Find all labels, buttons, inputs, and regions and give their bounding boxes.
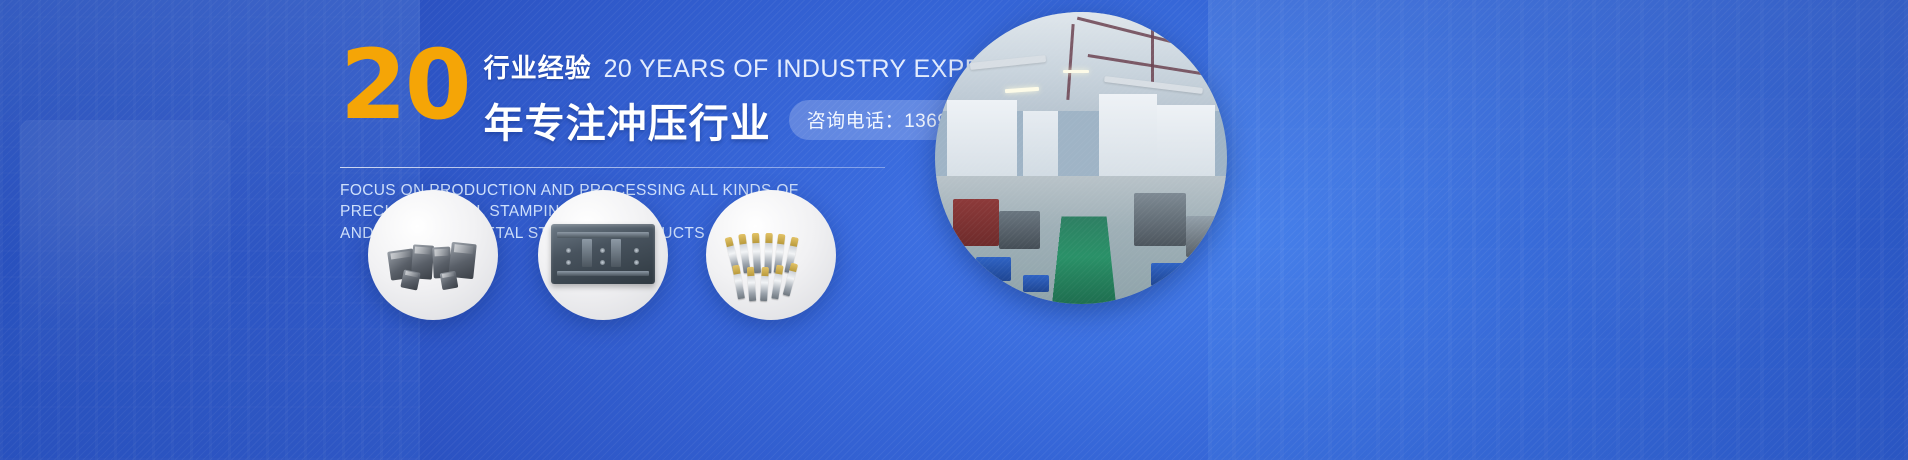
mold-post bbox=[582, 239, 591, 267]
factory-photo-circle[interactable] bbox=[935, 12, 1227, 304]
blue-crate bbox=[1023, 275, 1049, 293]
headline-cn-small: 行业经验 bbox=[484, 48, 592, 85]
headline: 20 行业经验 20 YEARS OF INDUSTRY EXPERIENCE … bbox=[340, 42, 960, 149]
ceiling-beam bbox=[1151, 18, 1154, 82]
ceiling-light bbox=[1063, 70, 1089, 73]
machine-unit bbox=[999, 211, 1040, 249]
connector-part bbox=[400, 269, 420, 290]
headline-cn-large: 年专注冲压行业 bbox=[484, 91, 771, 149]
blue-crate bbox=[1151, 263, 1189, 286]
promo-banner: 20 行业经验 20 YEARS OF INDUSTRY EXPERIENCE … bbox=[0, 0, 1908, 460]
mold-pin bbox=[634, 248, 639, 253]
blue-crate bbox=[976, 257, 1011, 280]
machine-unit bbox=[1134, 193, 1187, 246]
product-circle-connectors[interactable] bbox=[368, 190, 498, 320]
green-aisle bbox=[1052, 216, 1116, 304]
background-factory-ghost-right bbox=[1208, 0, 1908, 460]
mold-pin bbox=[566, 248, 571, 253]
mold-pin bbox=[634, 260, 639, 265]
mold-pin bbox=[600, 248, 605, 253]
metal-pin bbox=[760, 267, 769, 301]
years-number: 20 bbox=[340, 44, 470, 127]
connector-part bbox=[439, 271, 457, 290]
mold-rail bbox=[557, 232, 649, 237]
machine-unit bbox=[1186, 216, 1221, 257]
product-circle-pins[interactable] bbox=[706, 190, 836, 320]
mold-rail bbox=[557, 271, 649, 276]
mold-post bbox=[611, 239, 620, 267]
mold-body bbox=[551, 224, 655, 284]
divider-rule bbox=[340, 167, 885, 168]
machine-unit bbox=[953, 199, 1000, 246]
mold-pin bbox=[566, 260, 571, 265]
product-circle-mold[interactable] bbox=[538, 190, 668, 320]
mold-pin bbox=[600, 260, 605, 265]
